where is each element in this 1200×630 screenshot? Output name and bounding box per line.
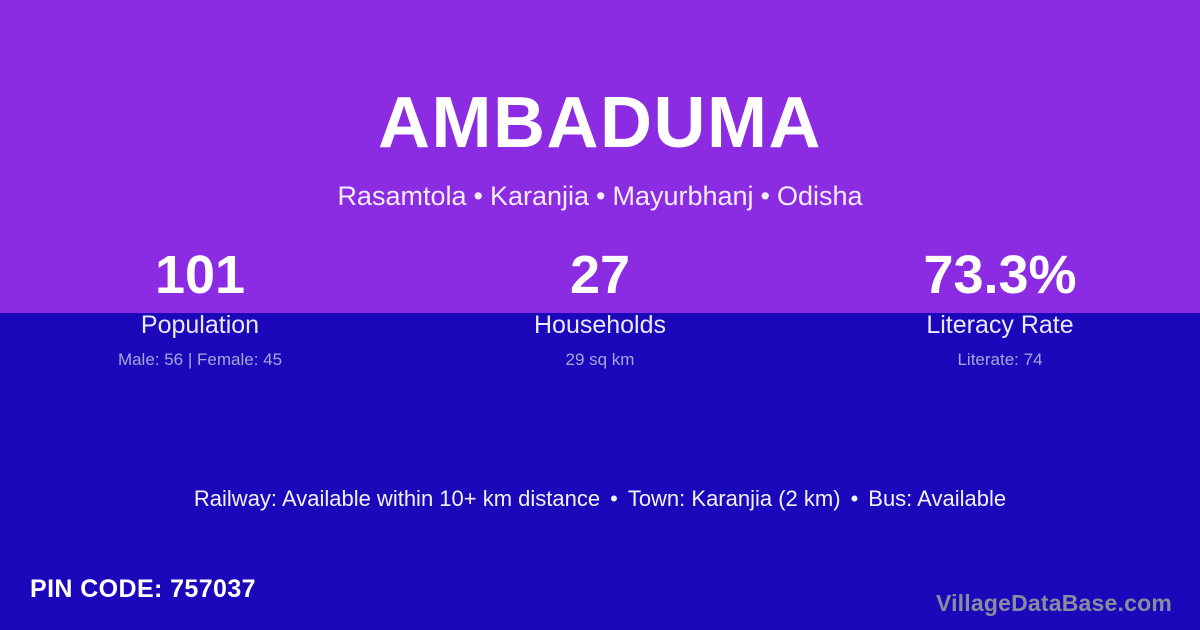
stat-literacy-label: Literacy Rate	[800, 310, 1200, 340]
stat-literacy-count: Literate: 74	[800, 349, 1200, 371]
location-part-district: Mayurbhanj	[612, 181, 753, 211]
infra-town: Town: Karanjia (2 km)	[628, 486, 841, 511]
village-name-title: AMBADUMA	[0, 87, 1200, 159]
statistics-row: 101 Population Male: 56 | Female: 45 27 …	[0, 246, 1200, 386]
infra-railway: Railway: Available within 10+ km distanc…	[194, 486, 600, 511]
location-part-panchayat: Rasamtola	[337, 181, 466, 211]
infra-separator-dot: •	[600, 483, 628, 515]
infra-bus: Bus: Available	[868, 486, 1006, 511]
stat-population-breakdown: Male: 56 | Female: 45	[0, 349, 400, 371]
village-info-card: AMBADUMA Rasamtola•Karanjia•Mayurbhanj•O…	[0, 0, 1200, 630]
card-header: AMBADUMA Rasamtola•Karanjia•Mayurbhanj•O…	[0, 0, 1200, 240]
stat-population: 101 Population Male: 56 | Female: 45	[0, 246, 400, 386]
location-part-block: Karanjia	[490, 181, 589, 211]
stat-households-area: 29 sq km	[400, 349, 800, 371]
stat-households-label: Households	[400, 310, 800, 340]
stat-literacy: 73.3% Literacy Rate Literate: 74	[800, 246, 1200, 386]
location-separator-dot: •	[589, 183, 612, 210]
stat-households-value: 27	[400, 246, 800, 304]
site-watermark: VillageDataBase.com	[936, 588, 1172, 618]
stat-households: 27 Households 29 sq km	[400, 246, 800, 386]
pin-code-label: PIN CODE: 757037	[30, 573, 256, 605]
location-separator-dot: •	[754, 183, 777, 210]
stat-literacy-value: 73.3%	[800, 246, 1200, 304]
location-part-state: Odisha	[777, 181, 863, 211]
stat-population-label: Population	[0, 310, 400, 340]
infrastructure-row: Railway: Available within 10+ km distanc…	[0, 483, 1200, 515]
village-location-breadcrumb: Rasamtola•Karanjia•Mayurbhanj•Odisha	[0, 183, 1200, 210]
location-separator-dot: •	[467, 183, 490, 210]
infra-separator-dot: •	[841, 483, 869, 515]
stat-population-value: 101	[0, 246, 400, 304]
